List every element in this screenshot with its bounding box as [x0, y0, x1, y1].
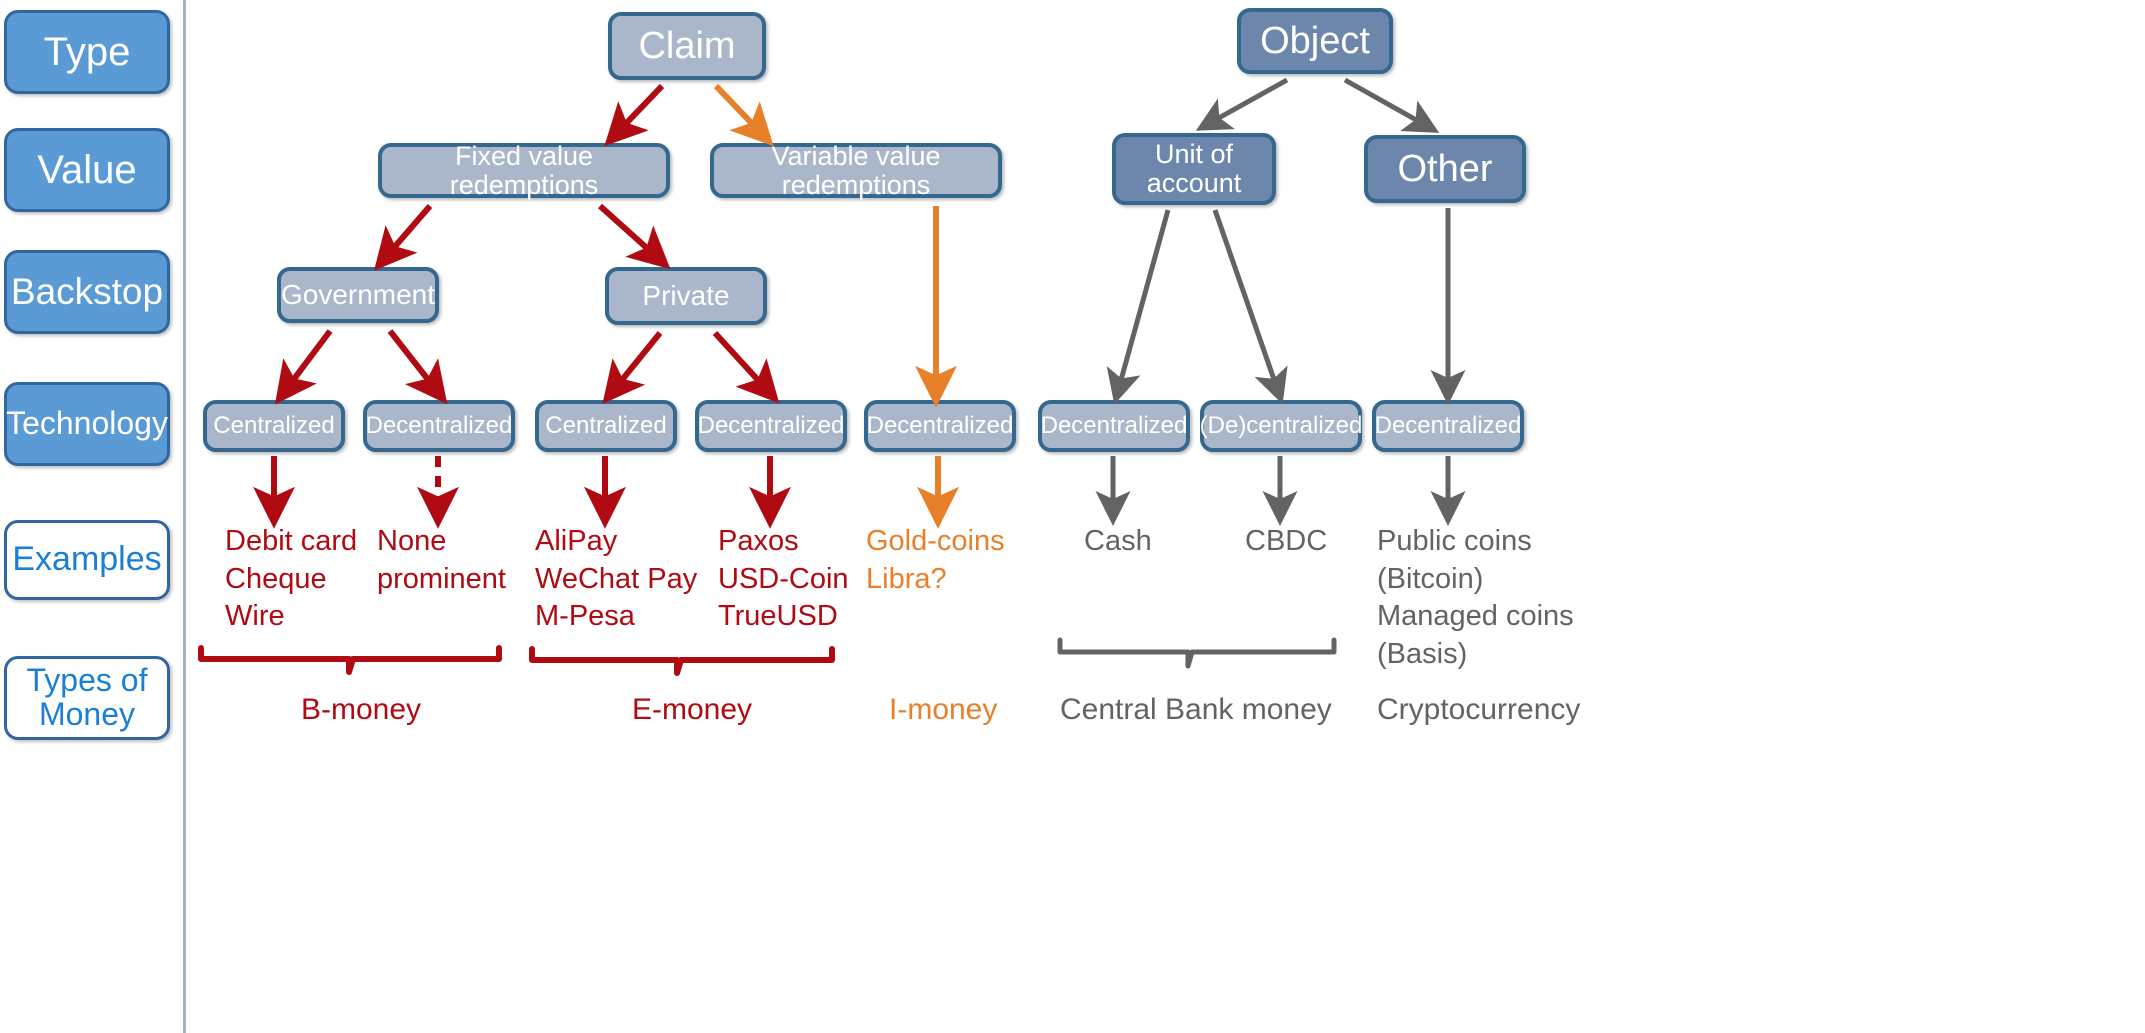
- node-tech-priv-decentralized[interactable]: Decentralized: [695, 400, 847, 452]
- examples-cash: Cash: [1084, 523, 1152, 561]
- node-tech-uoa-decentralized-label: Decentralized: [1041, 413, 1188, 438]
- arrow-uoa-to-decentralized: [1118, 210, 1168, 391]
- node-tech-uoa-decentralized[interactable]: Decentralized: [1038, 400, 1190, 452]
- node-tech-uoa-de-centralized[interactable]: (De)centralized: [1200, 400, 1362, 452]
- row-label-types-of-money-text: Types of Money: [7, 664, 167, 731]
- node-tech-priv-decentralized-label: Decentralized: [698, 413, 845, 438]
- examples-e-centralized: AliPay WeChat Pay M-Pesa: [535, 523, 697, 636]
- types-e-money: E-money: [632, 690, 752, 729]
- examples-cbdc: CBDC: [1245, 523, 1327, 561]
- row-label-types-of-money: Types of Money: [4, 656, 170, 740]
- row-label-type-text: Type: [44, 31, 131, 73]
- row-label-examples-text: Examples: [12, 542, 161, 578]
- node-private[interactable]: Private: [605, 267, 767, 325]
- node-tech-priv-centralized[interactable]: Centralized: [535, 400, 677, 452]
- row-label-value: Value: [4, 128, 170, 212]
- node-tech-variable-decentralized[interactable]: Decentralized: [864, 400, 1016, 452]
- arrow-private-to-centralized: [613, 333, 660, 391]
- arrow-object-to-unit-of-account: [1208, 80, 1287, 124]
- row-label-technology: Technology: [4, 382, 170, 466]
- brace-e-money: [532, 649, 832, 673]
- arrow-fixed-to-government: [385, 206, 430, 258]
- node-tech-other-decentralized-label: Decentralized: [1375, 413, 1522, 438]
- node-tech-uoa-de-centralized-label: (De)centralized: [1200, 413, 1363, 438]
- node-tech-gov-centralized-label: Centralized: [213, 413, 334, 438]
- types-cryptocurrency: Cryptocurrency: [1377, 690, 1580, 729]
- node-claim-label: Claim: [638, 26, 735, 66]
- node-claim[interactable]: Claim: [608, 12, 766, 80]
- column-divider: [183, 0, 186, 1033]
- node-fixed-value-redemptions-label: Fixed value redemptions: [388, 142, 660, 199]
- node-other-label: Other: [1397, 149, 1492, 189]
- node-variable-value-redemptions-label: Variable value redemptions: [720, 142, 992, 199]
- node-fixed-value-redemptions[interactable]: Fixed value redemptions: [378, 143, 670, 198]
- examples-b-decentralized: None prominent: [377, 523, 506, 598]
- arrow-government-to-centralized: [285, 331, 330, 391]
- arrow-claim-to-fixed: [616, 86, 662, 134]
- row-label-backstop-text: Backstop: [11, 273, 163, 312]
- connector-layer: [0, 0, 2145, 1033]
- arrow-fixed-to-private: [600, 206, 658, 258]
- node-tech-variable-decentralized-label: Decentralized: [867, 413, 1014, 438]
- node-government[interactable]: Government: [277, 267, 439, 323]
- brace-b-money: [201, 648, 499, 672]
- node-unit-of-account-label: Unit of account: [1122, 140, 1266, 197]
- diagram-canvas: Type Value Backstop Technology Examples …: [0, 0, 2145, 1033]
- row-label-examples: Examples: [4, 520, 170, 600]
- node-private-label: Private: [642, 281, 729, 311]
- examples-cryptocurrency: Public coins (Bitcoin) Managed coins (Ba…: [1377, 523, 1574, 674]
- row-label-type: Type: [4, 10, 170, 94]
- brace-central-bank-money: [1060, 640, 1334, 666]
- row-label-backstop: Backstop: [4, 250, 170, 334]
- node-unit-of-account[interactable]: Unit of account: [1112, 133, 1276, 205]
- node-government-label: Government: [281, 280, 435, 310]
- row-label-value-text: Value: [37, 149, 136, 191]
- examples-e-decentralized: Paxos USD-Coin TrueUSD: [718, 523, 849, 636]
- types-central-bank-money: Central Bank money: [1060, 690, 1332, 729]
- node-tech-gov-decentralized[interactable]: Decentralized: [363, 400, 515, 452]
- node-object-label: Object: [1260, 21, 1370, 61]
- node-variable-value-redemptions[interactable]: Variable value redemptions: [710, 143, 1002, 198]
- node-tech-priv-centralized-label: Centralized: [545, 413, 666, 438]
- arrow-uoa-to-de-centralized: [1215, 210, 1278, 391]
- types-b-money: B-money: [301, 690, 421, 729]
- arrow-government-to-decentralized: [390, 331, 437, 391]
- node-other[interactable]: Other: [1364, 135, 1526, 203]
- arrow-claim-to-variable: [716, 86, 762, 134]
- node-object[interactable]: Object: [1237, 8, 1393, 74]
- node-tech-other-decentralized[interactable]: Decentralized: [1372, 400, 1524, 452]
- node-tech-gov-decentralized-label: Decentralized: [366, 413, 513, 438]
- row-label-technology-text: Technology: [6, 407, 168, 441]
- examples-i-money: Gold-coins Libra?: [866, 523, 1005, 598]
- examples-b-centralized: Debit card Cheque Wire: [225, 523, 357, 636]
- types-i-money: I-money: [889, 690, 997, 729]
- arrow-object-to-other: [1345, 80, 1427, 126]
- arrow-private-to-decentralized: [715, 333, 768, 391]
- node-tech-gov-centralized[interactable]: Centralized: [203, 400, 345, 452]
